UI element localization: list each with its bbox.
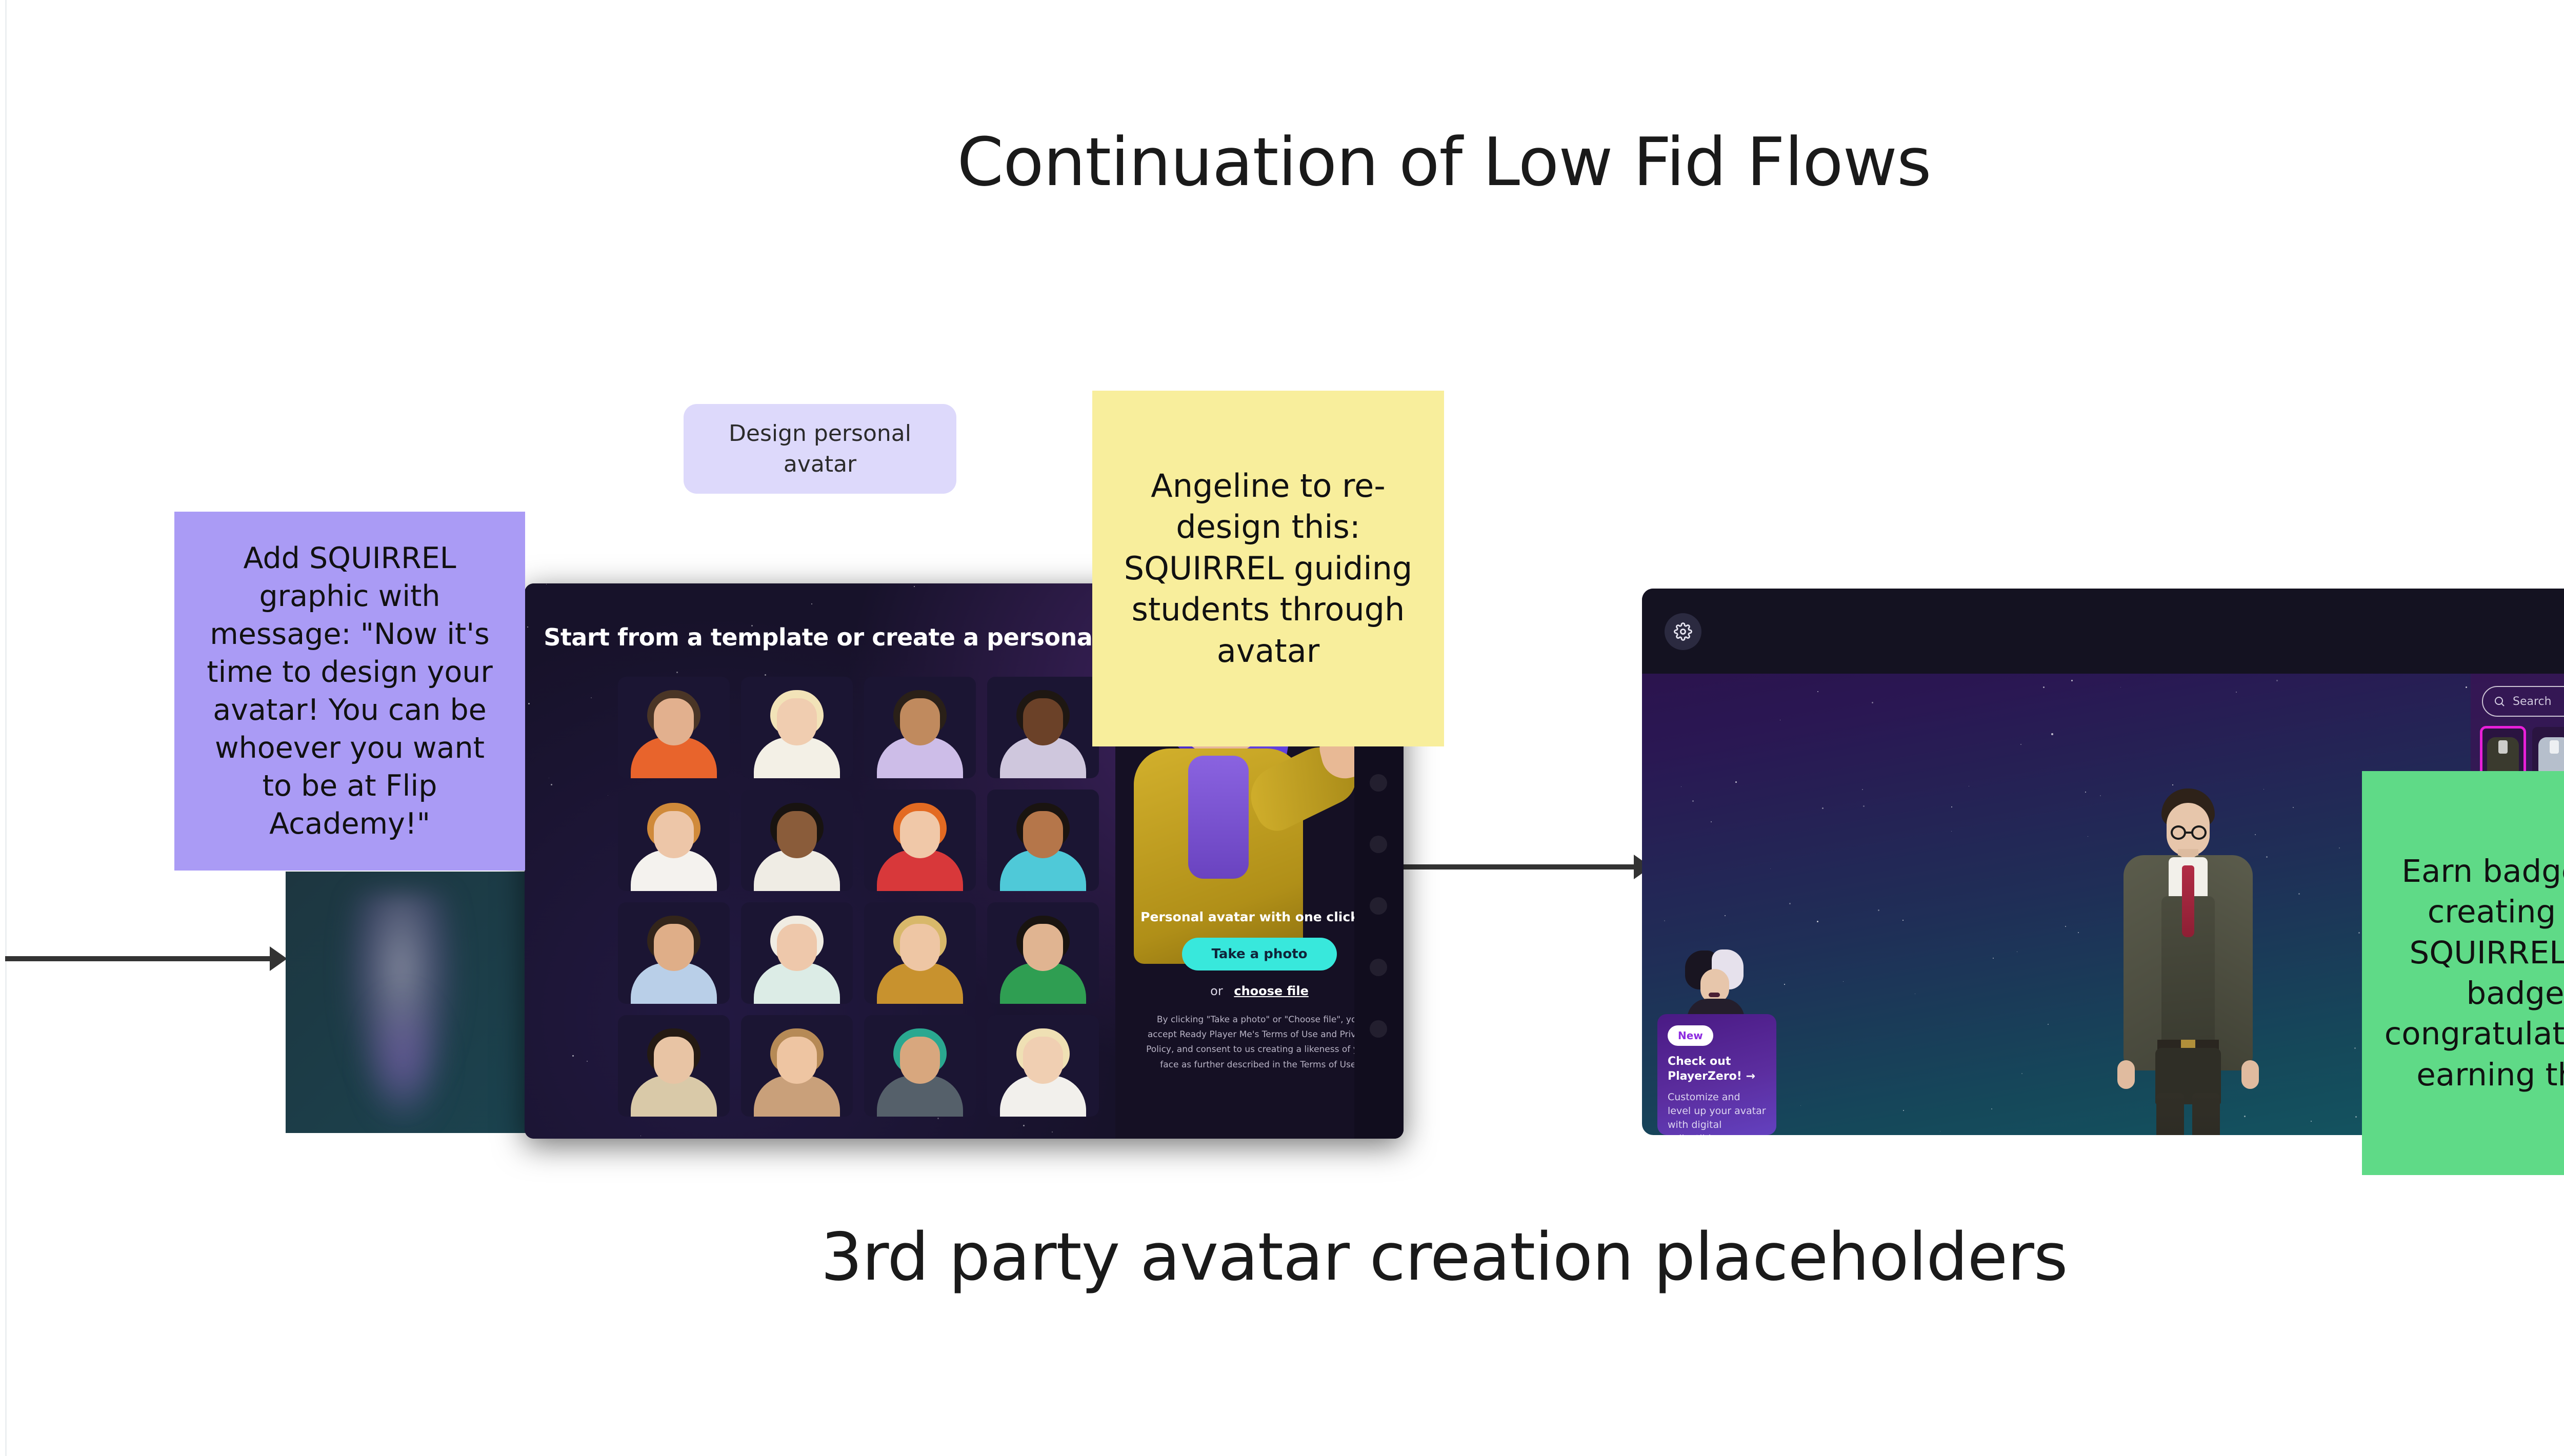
search-input[interactable]: Search: [2482, 686, 2564, 717]
choose-file-link[interactable]: choose file: [1234, 984, 1309, 998]
step-card-label: Design personal avatar: [704, 418, 936, 479]
avatar-template-cell[interactable]: [864, 677, 976, 778]
avatar-template-cell[interactable]: [864, 790, 976, 891]
playerzero-promo[interactable]: New Check out PlayerZero! → Customize an…: [1657, 948, 1776, 1135]
board-bottom-caption: 3rd party avatar creation placeholders: [0, 1219, 2564, 1296]
sticky-note-purple-text: Add SQUIRREL graphic with message: "Now …: [198, 539, 502, 843]
playerzero-card[interactable]: New Check out PlayerZero! → Customize an…: [1657, 1014, 1776, 1135]
step-card-design-personal-avatar[interactable]: Design personal avatar: [684, 404, 956, 494]
avatar-template-cell[interactable]: [618, 902, 730, 1004]
whiteboard-canvas: Continuation of Low Fid Flows 3rd party …: [0, 0, 2564, 1456]
avatar-template-cell[interactable]: [987, 1015, 1099, 1117]
sticky-note-green-text: Earn badge here for creating avatar - SQ…: [2383, 851, 2564, 1095]
sticky-note-green[interactable]: Earn badge here for creating avatar - SQ…: [2362, 771, 2564, 1175]
avatar-template-cell[interactable]: [864, 1015, 976, 1117]
wardrobe-item[interactable]: [2532, 727, 2564, 776]
arrow-into-template-picker: [5, 956, 282, 961]
avatar-template-cell[interactable]: [618, 790, 730, 891]
personal-avatar-label-text: Personal avatar with one click: [1140, 909, 1359, 924]
playerzero-title: Check out PlayerZero! →: [1668, 1054, 1766, 1084]
avatar-template-cell[interactable]: [741, 902, 853, 1004]
personal-avatar-label: Personal avatar with one click ?: [1140, 909, 1378, 924]
avatar-template-cell[interactable]: [741, 1015, 853, 1117]
search-placeholder: Search: [2513, 695, 2552, 708]
blurred-avatar-glow: [363, 989, 445, 1133]
board-title: Continuation of Low Fid Flows: [0, 123, 2564, 201]
new-badge: New: [1668, 1025, 1713, 1046]
sticky-note-yellow[interactable]: Angeline to re-design this: SQUIRREL gui…: [1092, 391, 1444, 746]
avatar-template-cell[interactable]: [741, 790, 853, 891]
avatar-template-grid[interactable]: [618, 677, 1110, 1117]
search-icon: [2493, 695, 2506, 707]
avatar-template-cell[interactable]: [618, 677, 730, 778]
wardrobe-item[interactable]: [2481, 727, 2525, 776]
avatar-template-cell[interactable]: [618, 1015, 730, 1117]
sticky-note-purple[interactable]: Add SQUIRREL graphic with message: "Now …: [174, 512, 525, 871]
sticky-note-yellow-text: Angeline to re-design this: SQUIRREL gui…: [1119, 466, 1417, 672]
legal-text: By clicking "Take a photo" or "Choose fi…: [1144, 1013, 1375, 1073]
avatar-template-cell[interactable]: [741, 677, 853, 778]
arrow-template-to-editor: [1379, 864, 1646, 869]
take-a-photo-button[interactable]: Take a photo: [1182, 938, 1337, 970]
avatar-template-cell[interactable]: [987, 902, 1099, 1004]
or-label: or: [1210, 984, 1223, 998]
avatar-template-cell[interactable]: [987, 790, 1099, 891]
avatar-template-cell[interactable]: [987, 677, 1099, 778]
playerzero-subtitle: Customize and level up your avatar with …: [1668, 1090, 1766, 1135]
avatar-template-cell[interactable]: [864, 902, 976, 1004]
